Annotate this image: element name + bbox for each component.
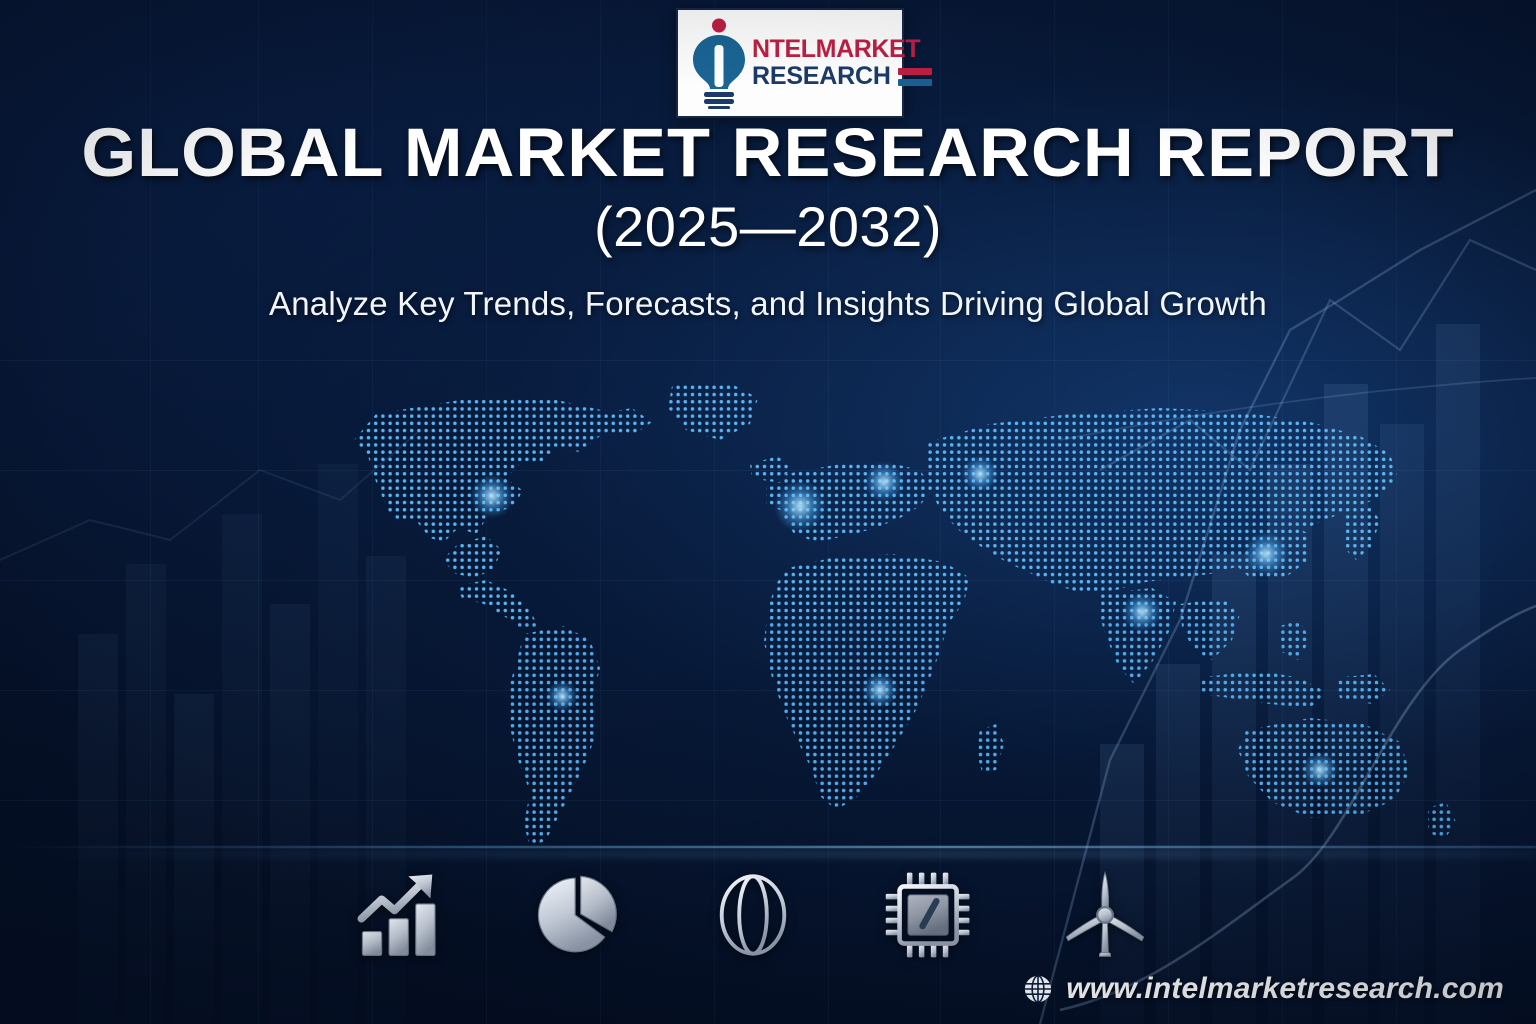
- company-logo[interactable]: NTELMARKET RESEARCH: [676, 8, 904, 118]
- page-subtitle: Analyze Key Trends, Forecasts, and Insig…: [0, 285, 1536, 323]
- growth-bar-chart-arrow-icon: [348, 863, 454, 967]
- pie-chart-icon: [524, 863, 630, 967]
- website-url: www.intelmarketresearch.com: [1066, 972, 1504, 1006]
- logo-text-secondary: RESEARCH: [752, 63, 891, 89]
- headline-block: GLOBAL MARKET RESEARCH REPORT (2025—2032…: [0, 118, 1536, 323]
- dotted-world-map: [280, 378, 1470, 858]
- wind-turbine-icon: [1052, 863, 1158, 967]
- microchip-icon: [876, 863, 982, 967]
- report-cover-slide: NTELMARKET RESEARCH GLOBAL MARKET RESEAR…: [0, 0, 1536, 1024]
- logo-stripes: [898, 66, 932, 86]
- lightbulb-icon: [688, 17, 750, 109]
- forecast-period: (2025—2032): [0, 199, 1536, 255]
- logo-text-primary: NTELMARKET: [752, 37, 932, 63]
- footer-website[interactable]: www.intelmarketresearch.com: [1023, 972, 1504, 1006]
- page-title: GLOBAL MARKET RESEARCH REPORT: [0, 118, 1536, 187]
- globe-icon: [1023, 974, 1053, 1004]
- feature-icon-strip: [348, 862, 1158, 968]
- globe-grid-icon: [700, 863, 806, 967]
